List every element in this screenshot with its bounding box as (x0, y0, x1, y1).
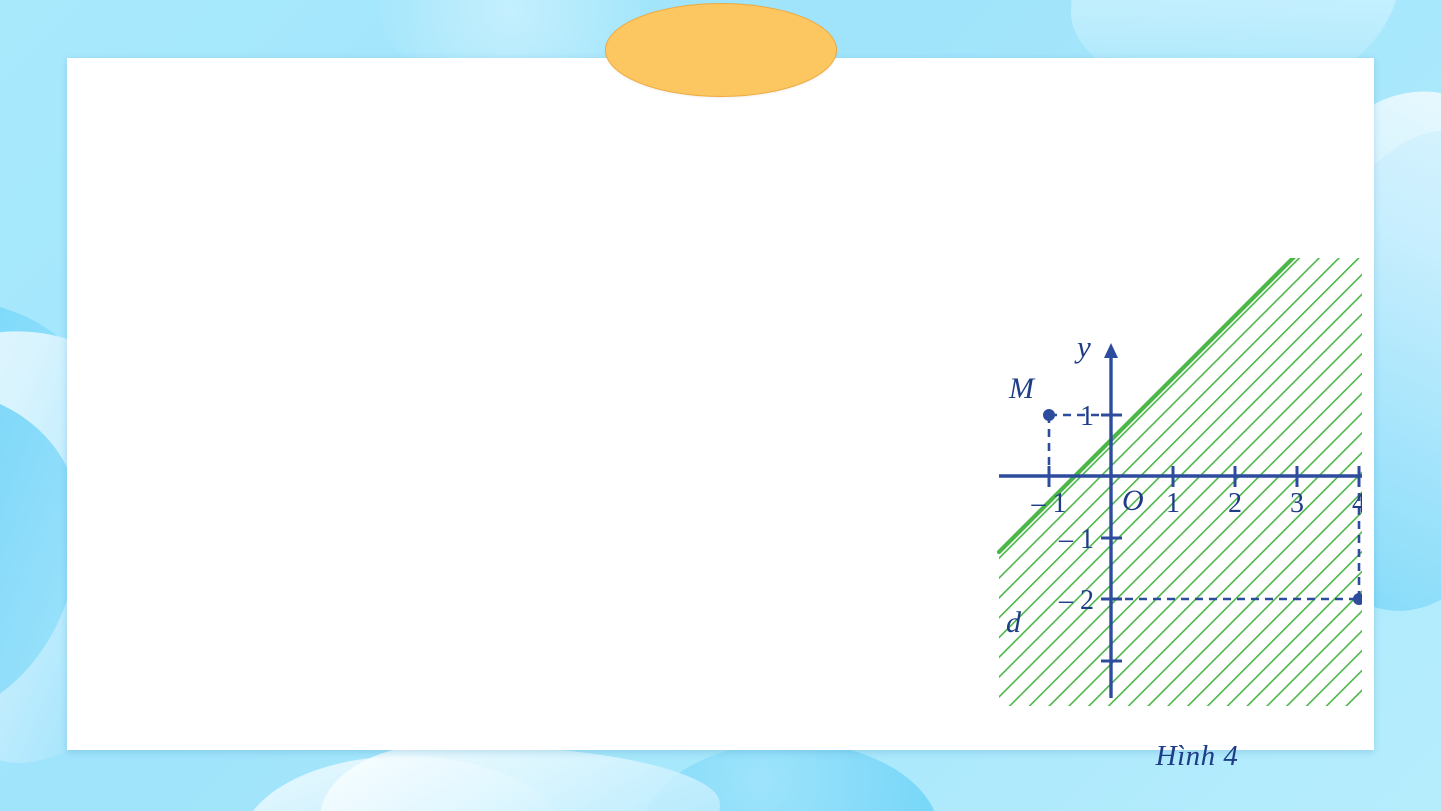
line-d-label: d (1006, 606, 1022, 639)
coordinate-plane-svg: M N d y x O – 1 1 2 3 4 1 – 1 – 2 (922, 258, 1362, 718)
point-m-label: M (1008, 372, 1036, 405)
content-card: M N d y x O – 1 1 2 3 4 1 – 1 – 2 Hình 4 (67, 58, 1374, 750)
shaded-half-plane (999, 258, 1362, 706)
y-axis-label: y (1074, 329, 1091, 364)
background-circle-bottom (640, 742, 940, 811)
x-tick-label-2: 2 (1228, 488, 1242, 519)
x-tick-label-3: 3 (1290, 488, 1304, 519)
coordinate-figure: M N d y x O – 1 1 2 3 4 1 – 1 – 2 (922, 258, 1362, 718)
y-axis-arrow (1104, 343, 1118, 358)
x-tick-label--1: – 1 (1031, 488, 1067, 519)
accent-ellipse (605, 3, 837, 97)
y-tick-label--2: – 2 (1058, 585, 1094, 616)
slide-canvas: M N d y x O – 1 1 2 3 4 1 – 1 – 2 Hình 4 (0, 0, 1441, 811)
y-tick-label--1: – 1 (1058, 524, 1094, 555)
point-m-marker (1043, 409, 1055, 421)
origin-label: O (1122, 484, 1144, 517)
background-wave-bottom (320, 744, 720, 811)
x-tick-label-1: 1 (1166, 488, 1180, 519)
figure-caption: Hình 4 (1082, 740, 1312, 773)
y-tick-label-1: 1 (1080, 401, 1094, 432)
x-tick-label-4: 4 (1352, 488, 1362, 519)
background-circle-bottom-left (240, 756, 570, 811)
